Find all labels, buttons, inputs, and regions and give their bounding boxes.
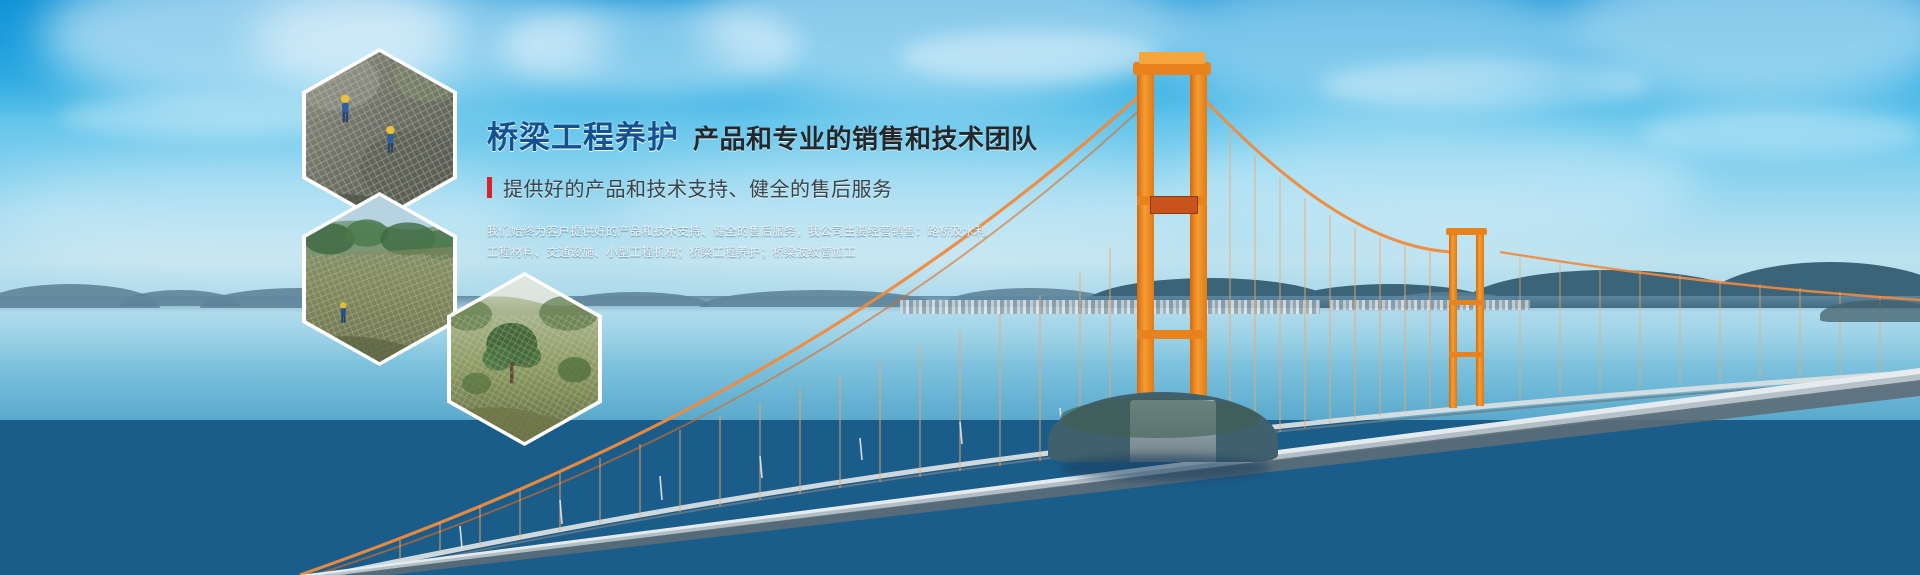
suspension-bridge — [0, 0, 1920, 575]
banner-text-block: 桥梁工程养护产品和专业的销售和技术团队 提供好的产品和技术支持、健全的售后服务 … — [487, 122, 1047, 265]
hero-banner: 桥梁工程养护产品和专业的销售和技术团队 提供好的产品和技术支持、健全的售后服务 … — [0, 0, 1920, 575]
island-reflection — [1060, 455, 1270, 481]
banner-body-text: 我们始终为客户提供好的产品和技术支持、健全的售后服务，我公司主要经营销售：路桥及… — [487, 222, 1047, 265]
headline-sub-text: 产品和专业的销售和技术团队 — [693, 124, 1038, 154]
island-vegetation — [1060, 398, 1260, 438]
banner-subtitle-row: 提供好的产品和技术支持、健全的售后服务 — [487, 173, 1047, 202]
headline-main-text: 桥梁工程养护 — [487, 120, 679, 155]
banner-subtitle-text: 提供好的产品和技术支持、健全的售后服务 — [503, 173, 893, 202]
body-line-1: 我们始终为客户提供好的产品和技术支持、健全的售后服务，我公司主要经营销售：路桥及… — [487, 222, 1047, 243]
bridge-deck — [0, 0, 1920, 575]
banner-headline: 桥梁工程养护产品和专业的销售和技术团队 — [487, 122, 1047, 153]
body-line-2: 工程材料、交通设施、小型工程机械；桥梁工程养护；桥梁波纹管加工 — [487, 243, 1047, 264]
accent-bar — [487, 177, 492, 198]
